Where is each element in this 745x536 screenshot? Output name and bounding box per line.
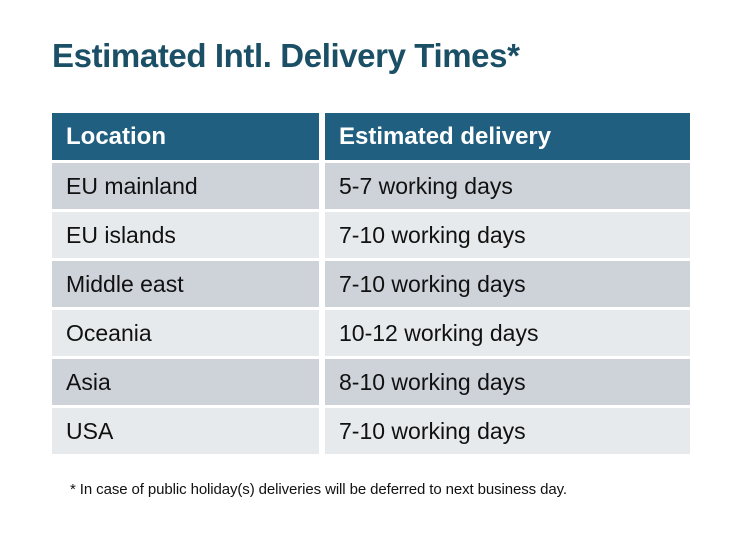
cell-estimated-delivery: 10-12 working days [325, 310, 690, 356]
table-header-row: Location Estimated delivery [52, 113, 690, 160]
table-row: Middle east 7-10 working days [52, 261, 690, 307]
column-header-estimated-delivery: Estimated delivery [325, 113, 690, 160]
cell-location: USA [52, 408, 319, 454]
cell-estimated-delivery: 7-10 working days [325, 261, 690, 307]
page-title: Estimated Intl. Delivery Times* [52, 36, 520, 76]
cell-location: Oceania [52, 310, 319, 356]
cell-estimated-delivery: 8-10 working days [325, 359, 690, 405]
cell-estimated-delivery: 7-10 working days [325, 212, 690, 258]
cell-location: Asia [52, 359, 319, 405]
footnote-text: * In case of public holiday(s) deliverie… [70, 481, 567, 498]
cell-estimated-delivery: 7-10 working days [325, 408, 690, 454]
cell-location: EU islands [52, 212, 319, 258]
table-row: EU islands 7-10 working days [52, 212, 690, 258]
table-row: USA 7-10 working days [52, 408, 690, 454]
delivery-times-table: Location Estimated delivery EU mainland … [52, 113, 690, 454]
cell-location: Middle east [52, 261, 319, 307]
table-row: Asia 8-10 working days [52, 359, 690, 405]
table-row: EU mainland 5-7 working days [52, 163, 690, 209]
table-row: Oceania 10-12 working days [52, 310, 690, 356]
column-header-location: Location [52, 113, 319, 160]
cell-location: EU mainland [52, 163, 319, 209]
delivery-times-page: Estimated Intl. Delivery Times* Location… [0, 0, 745, 536]
cell-estimated-delivery: 5-7 working days [325, 163, 690, 209]
